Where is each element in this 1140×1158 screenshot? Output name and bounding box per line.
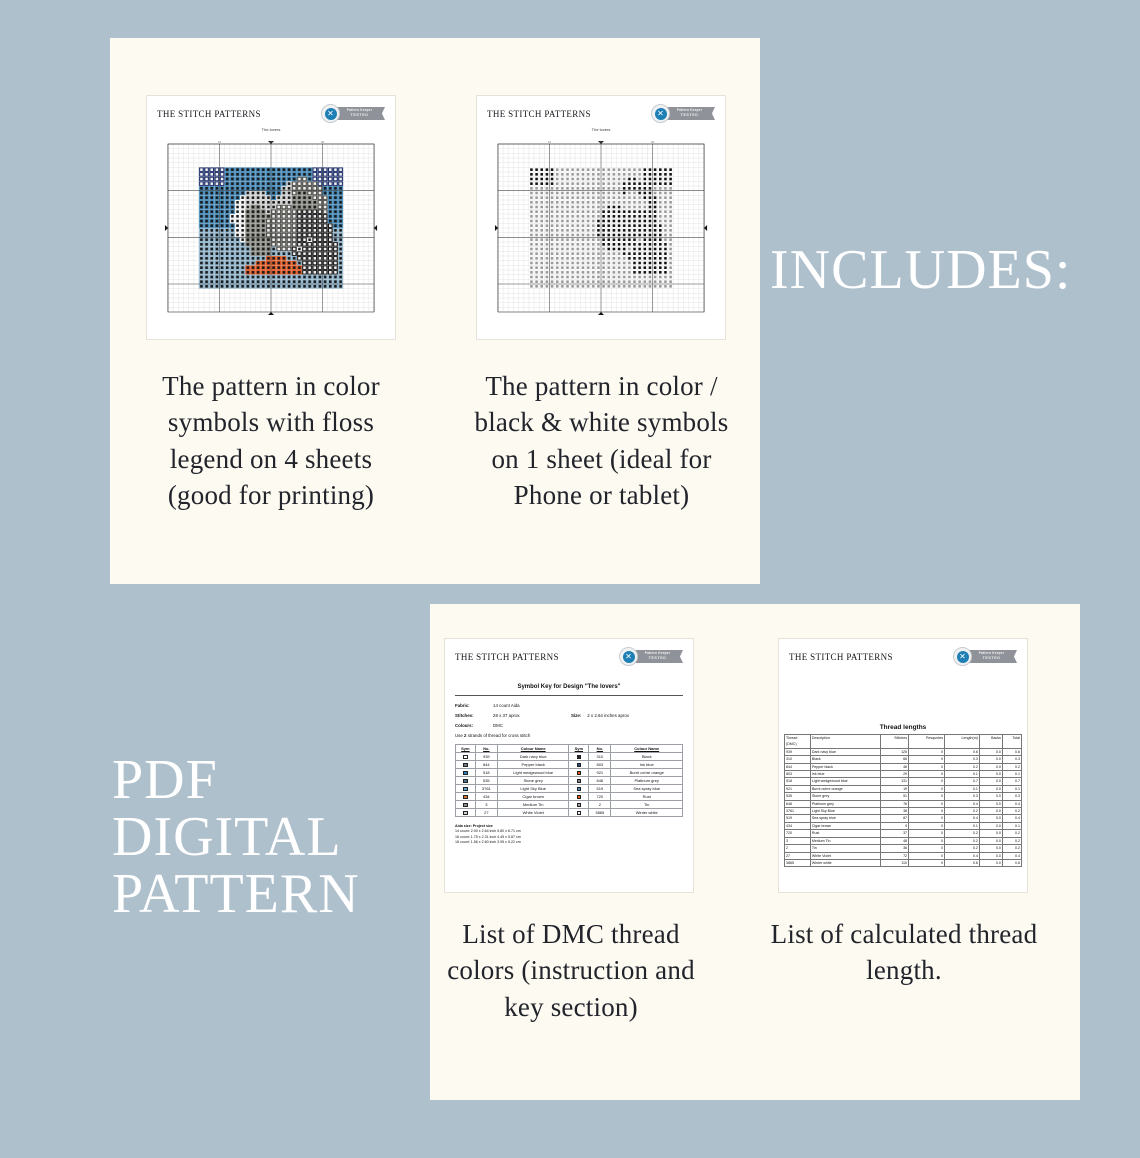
meta-row: Fabric:14 count Aida xyxy=(455,703,683,708)
stitches-cell: 125 xyxy=(880,748,908,755)
pesquntes-cell: 0 xyxy=(909,845,945,852)
colour-name-cell: White Violet xyxy=(497,809,569,817)
description-cell: Dark navy blue xyxy=(810,748,880,755)
badge-cross-icon: ✕ xyxy=(957,651,969,663)
colour-name-cell: Platinum grey xyxy=(611,777,683,785)
column-header: Sym xyxy=(569,745,589,753)
colour-name-cell: Tin xyxy=(611,801,683,809)
backs-cell: 0.0 xyxy=(979,800,1002,807)
document-card-symbol-key[interactable]: THE STITCH PATTERNS Pattern Keeper TESTE… xyxy=(444,638,694,893)
colour-name-cell: Burnt ochre orange xyxy=(611,769,683,777)
caption-thread-lengths: List of calculated thread length. xyxy=(760,916,1048,989)
description-cell: Burnt ochre orange xyxy=(810,785,880,792)
stitches-cell: 9 xyxy=(880,822,908,829)
color-swatch xyxy=(463,755,468,760)
length-cell: 0.3 xyxy=(945,793,980,800)
column-header: Pesquntes xyxy=(909,735,945,749)
pesquntes-cell: 0 xyxy=(909,778,945,785)
document-header: THE STITCH PATTERNS Pattern Keeper TESTE… xyxy=(477,96,725,125)
chart-grid xyxy=(491,133,711,323)
thread-cell: 518 xyxy=(785,778,811,785)
pesquntes-cell: 0 xyxy=(909,808,945,815)
stitches-cell: 29 xyxy=(880,771,908,778)
dmc-number-cell: 939 xyxy=(475,753,497,761)
symbol-swatch-cell xyxy=(456,785,476,793)
symbol-swatch-cell xyxy=(456,769,476,777)
table-row: 3865Winter white11000.60.00.6 xyxy=(785,859,1022,866)
description-cell: Light wedgewood blue xyxy=(810,778,880,785)
symbol-swatch-cell xyxy=(569,761,589,769)
chart-area: The lovers xyxy=(477,125,725,329)
symbol-key-meta-list: Fabric:14 count AidaStitches:28 x 37 apr… xyxy=(455,703,683,728)
document-header-title: THE STITCH PATTERNS xyxy=(789,652,893,662)
table-row: 310Black6600.30.00.3 xyxy=(785,756,1022,763)
color-swatch xyxy=(463,811,468,816)
badge-cross-icon: ✕ xyxy=(655,108,667,120)
chart-grid xyxy=(161,133,381,323)
caption-color-chart: The pattern in color symbols with floss … xyxy=(136,368,406,514)
stitches-cell: 48 xyxy=(880,837,908,844)
total-cell: 0.4 xyxy=(1002,800,1021,807)
table-row: 803Ink blue2900.10.00.1 xyxy=(785,771,1022,778)
backs-cell: 0.0 xyxy=(979,808,1002,815)
symbol-swatch-cell xyxy=(569,777,589,785)
pesquntes-cell: 0 xyxy=(909,852,945,859)
length-cell: 0.4 xyxy=(945,800,980,807)
table-row: 518Light wedgewood blue921Burnt ochre or… xyxy=(456,769,683,777)
color-swatch xyxy=(577,755,582,760)
colour-name-cell: Medium Tin xyxy=(497,801,569,809)
table-row: 27White Violet7200.40.00.4 xyxy=(785,852,1022,859)
color-swatch xyxy=(577,811,582,816)
color-swatch xyxy=(463,763,468,768)
backs-cell: 0.0 xyxy=(979,748,1002,755)
pesquntes-cell: 0 xyxy=(909,859,945,866)
pesquntes-cell: 0 xyxy=(909,785,945,792)
length-cell: 0.2 xyxy=(945,763,980,770)
symbol-swatch-cell xyxy=(456,777,476,785)
table-row: 939Dark navy blue12500.60.00.6 xyxy=(785,748,1022,755)
pesquntes-cell: 0 xyxy=(909,800,945,807)
colour-name-cell: Black xyxy=(611,753,683,761)
meta-label-2: Size: xyxy=(571,713,581,718)
dmc-number-cell: 844 xyxy=(475,761,497,769)
dmc-number-cell: 518 xyxy=(475,769,497,777)
badge-status-label: TESTED xyxy=(966,656,1017,661)
symbol-swatch-cell xyxy=(456,793,476,801)
dmc-number-cell: 3 xyxy=(475,801,497,809)
thread-cell: 3865 xyxy=(785,859,811,866)
table-row: 535Stone grey646Platinum grey xyxy=(456,777,683,785)
thread-cell: 535 xyxy=(785,793,811,800)
total-cell: 0.2 xyxy=(1002,837,1021,844)
dmc-number-cell: 921 xyxy=(589,769,611,777)
backs-cell: 0.0 xyxy=(979,859,1002,866)
document-header-title: THE STITCH PATTERNS xyxy=(455,652,559,662)
strands-note-pre: Use xyxy=(455,733,464,738)
length-cell: 0.2 xyxy=(945,830,980,837)
description-cell: Pepper black xyxy=(810,763,880,770)
description-cell: Tin xyxy=(810,845,880,852)
badge-disc-icon: ✕ xyxy=(619,647,638,666)
color-swatch xyxy=(577,779,582,784)
includes-heading: INCLUDES: xyxy=(770,238,1071,302)
badge-disc-icon: ✕ xyxy=(321,104,340,123)
table-row: 518Light wedgewood blue13100.70.00.7 xyxy=(785,778,1022,785)
pesquntes-cell: 0 xyxy=(909,830,945,837)
dmc-number-cell: 3761 xyxy=(475,785,497,793)
table-row: 3Medium Tin4800.20.00.2 xyxy=(785,837,1022,844)
pdf-heading-line-2: DIGITAL xyxy=(112,809,360,866)
description-cell: Medium Tin xyxy=(810,837,880,844)
stitches-cell: 37 xyxy=(880,830,908,837)
total-cell: 0.3 xyxy=(1002,756,1021,763)
symbol-swatch-cell xyxy=(569,793,589,801)
table-row: 844Pepper black4600.20.00.2 xyxy=(785,763,1022,770)
backs-cell: 0.0 xyxy=(979,822,1002,829)
meta-value: DMC xyxy=(493,723,571,728)
stitches-cell: 72 xyxy=(880,852,908,859)
length-cell: 0.2 xyxy=(945,808,980,815)
total-cell: 0.6 xyxy=(1002,859,1021,866)
column-header: Thread(DMC) xyxy=(785,735,811,749)
badge-cross-icon: ✕ xyxy=(325,108,337,120)
length-cell: 0.1 xyxy=(945,771,980,778)
meta-value: 28 x 37 aprox xyxy=(493,713,571,718)
meta-value: 14 count Aida xyxy=(493,703,571,708)
color-swatch xyxy=(577,795,582,800)
color-swatch xyxy=(463,771,468,776)
colour-name-cell: Winter white xyxy=(611,809,683,817)
backs-cell: 0.0 xyxy=(979,815,1002,822)
dmc-number-cell: 310 xyxy=(589,753,611,761)
thread-cell: 3761 xyxy=(785,808,811,815)
thread-cell: 720 xyxy=(785,830,811,837)
description-cell: Platinum grey xyxy=(810,800,880,807)
description-cell: White Violet xyxy=(810,852,880,859)
pesquntes-cell: 0 xyxy=(909,793,945,800)
stitches-cell: 87 xyxy=(880,815,908,822)
description-cell: Ink blue xyxy=(810,771,880,778)
thread-lengths-table: Thread(DMC)DescriptionStitchesPesquntesL… xyxy=(784,734,1022,867)
dmc-number-cell: 535 xyxy=(475,777,497,785)
description-cell: Cigar brown xyxy=(810,822,880,829)
symbol-swatch-cell xyxy=(569,801,589,809)
stitches-cell: 19 xyxy=(880,785,908,792)
backs-cell: 0.0 xyxy=(979,830,1002,837)
dmc-number-cell: 803 xyxy=(589,761,611,769)
document-card-bw-chart[interactable]: THE STITCH PATTERNS Pattern Keeper TESTE… xyxy=(476,95,726,340)
backs-cell: 0.0 xyxy=(979,852,1002,859)
backs-cell: 0.0 xyxy=(979,785,1002,792)
backs-cell: 0.0 xyxy=(979,845,1002,852)
color-swatch xyxy=(463,779,468,784)
column-header: Colour Name xyxy=(497,745,569,753)
meta-value-2: 2 x 2.64 inches aprox xyxy=(587,713,629,718)
document-header: THE STITCH PATTERNS Pattern Keeper TESTE… xyxy=(779,639,1027,668)
backs-cell: 0.0 xyxy=(979,793,1002,800)
pattern-keeper-tested-badge: Pattern Keeper TESTED ✕ xyxy=(619,647,683,666)
pattern-keeper-tested-badge: Pattern Keeper TESTED ✕ xyxy=(651,104,715,123)
chart-caption: The lovers xyxy=(491,127,711,132)
stitches-cell: 51 xyxy=(880,793,908,800)
table-row: 844Pepper black803Ink blue xyxy=(456,761,683,769)
symbol-swatch-cell xyxy=(569,769,589,777)
length-cell: 0.4 xyxy=(945,815,980,822)
total-cell: 0.2 xyxy=(1002,830,1021,837)
pesquntes-cell: 0 xyxy=(909,822,945,829)
length-cell: 0.1 xyxy=(945,822,980,829)
caption-bw-chart: The pattern in color / black & white sym… xyxy=(460,368,743,514)
thread-lengths-title: Thread lengths xyxy=(779,724,1027,731)
caption-symbol-key: List of DMC thread colors (instruction a… xyxy=(440,916,702,1025)
total-cell: 0.1 xyxy=(1002,785,1021,792)
document-header-title: THE STITCH PATTERNS xyxy=(157,109,261,119)
thread-cell: 3 xyxy=(785,837,811,844)
total-cell: 0.2 xyxy=(1002,845,1021,852)
colour-name-cell: Light wedgewood blue xyxy=(497,769,569,777)
document-header: THE STITCH PATTERNS Pattern Keeper TESTE… xyxy=(445,639,693,668)
stitches-cell: 46 xyxy=(880,763,908,770)
stitches-cell: 36 xyxy=(880,845,908,852)
stitches-cell: 131 xyxy=(880,778,908,785)
table-row: 646Platinum grey7600.40.00.4 xyxy=(785,800,1022,807)
badge-disc-icon: ✕ xyxy=(651,104,670,123)
total-cell: 0.2 xyxy=(1002,808,1021,815)
length-cell: 0.4 xyxy=(945,852,980,859)
meta-row: Colours:DMC xyxy=(455,723,683,728)
thread-cell: 434 xyxy=(785,822,811,829)
badge-status-label: TESTED xyxy=(334,113,385,118)
color-swatch xyxy=(463,795,468,800)
document-header: THE STITCH PATTERNS Pattern Keeper TESTE… xyxy=(147,96,395,125)
column-header: No. xyxy=(475,745,497,753)
pdf-heading-line-3: PATTERN xyxy=(112,866,360,923)
column-header: Stitches xyxy=(880,735,908,749)
pesquntes-cell: 0 xyxy=(909,748,945,755)
thread-cell: 646 xyxy=(785,800,811,807)
dmc-number-cell: 27 xyxy=(475,809,497,817)
column-header: Description xyxy=(810,735,880,749)
length-cell: 0.3 xyxy=(945,756,980,763)
column-header: No. xyxy=(589,745,611,753)
total-cell: 0.7 xyxy=(1002,778,1021,785)
meta-label: Colours: xyxy=(455,723,493,728)
thread-cell: 519 xyxy=(785,815,811,822)
total-cell: 0.6 xyxy=(1002,748,1021,755)
backs-cell: 0.0 xyxy=(979,837,1002,844)
colour-name-cell: Rust xyxy=(611,793,683,801)
document-card-thread-lengths[interactable]: THE STITCH PATTERNS Pattern Keeper TESTE… xyxy=(778,638,1028,893)
symbol-key-title: Symbol Key for Design "The lovers" xyxy=(455,684,683,690)
table-row: 434Cigar brown720Rust xyxy=(456,793,683,801)
table-row: 27White Violet3865Winter white xyxy=(456,809,683,817)
length-cell: 0.6 xyxy=(945,748,980,755)
badge-disc-icon: ✕ xyxy=(953,647,972,666)
table-header-row: Thread(DMC)DescriptionStitchesPesquntesL… xyxy=(785,735,1022,749)
stitches-cell: 66 xyxy=(880,756,908,763)
dmc-number-cell: 646 xyxy=(589,777,611,785)
length-cell: 0.2 xyxy=(945,837,980,844)
stitches-cell: 76 xyxy=(880,800,908,807)
meta-label: Fabric: xyxy=(455,703,493,708)
table-row: 519Sea spray blue8700.40.00.4 xyxy=(785,815,1022,822)
colour-name-cell: Stone grey xyxy=(497,777,569,785)
total-cell: 0.1 xyxy=(1002,822,1021,829)
pattern-keeper-tested-badge: Pattern Keeper TESTED ✕ xyxy=(321,104,385,123)
length-cell: 0.7 xyxy=(945,778,980,785)
table-header-row: SymNo.Colour NameSymNo.Colour Name xyxy=(456,745,683,753)
dmc-number-cell: 519 xyxy=(589,785,611,793)
stitches-cell: 38 xyxy=(880,808,908,815)
thread-cell: 803 xyxy=(785,771,811,778)
badge-status-label: TESTED xyxy=(664,113,715,118)
backs-cell: 0.0 xyxy=(979,763,1002,770)
total-cell: 0.4 xyxy=(1002,852,1021,859)
table-row: 2Tin3600.20.00.2 xyxy=(785,845,1022,852)
colour-name-cell: Sea spray blue xyxy=(611,785,683,793)
colour-name-cell: Ink blue xyxy=(611,761,683,769)
column-header: Length(m) xyxy=(945,735,980,749)
length-cell: 0.1 xyxy=(945,785,980,792)
badge-status-label: TESTED xyxy=(632,656,683,661)
table-row: 3761Light Sky Blue519Sea spray blue xyxy=(456,785,683,793)
aida-size-block: Aida size: Project size 14 count: 2.00 x… xyxy=(455,824,683,846)
thread-cell: 939 xyxy=(785,748,811,755)
color-swatch xyxy=(463,787,468,792)
pesquntes-cell: 0 xyxy=(909,756,945,763)
stitches-cell: 110 xyxy=(880,859,908,866)
color-swatch xyxy=(577,771,582,776)
thread-cell: 310 xyxy=(785,756,811,763)
column-header: Sym xyxy=(456,745,476,753)
pesquntes-cell: 0 xyxy=(909,763,945,770)
document-card-color-chart[interactable]: THE STITCH PATTERNS Pattern Keeper TESTE… xyxy=(146,95,396,340)
symbol-swatch-cell xyxy=(569,809,589,817)
pdf-heading-line-1: PDF xyxy=(112,752,360,809)
total-cell: 0.2 xyxy=(1002,763,1021,770)
total-cell: 0.3 xyxy=(1002,793,1021,800)
colour-name-cell: Dark navy blue xyxy=(497,753,569,761)
total-cell: 0.4 xyxy=(1002,815,1021,822)
table-row: 3761Light Sky Blue3800.20.00.2 xyxy=(785,808,1022,815)
strands-note-post: strands of thread for cross stitch xyxy=(466,733,530,738)
description-cell: Stone grey xyxy=(810,793,880,800)
symbol-swatch-cell xyxy=(569,753,589,761)
meta-row: Stitches:28 x 37 aproxSize:2 x 2.64 inch… xyxy=(455,713,683,718)
symbol-key-table: SymNo.Colour NameSymNo.Colour Name 939Da… xyxy=(455,744,683,817)
dmc-number-cell: 2 xyxy=(589,801,611,809)
table-row: 720Rust3700.20.00.2 xyxy=(785,830,1022,837)
description-cell: Winter white xyxy=(810,859,880,866)
pesquntes-cell: 0 xyxy=(909,815,945,822)
thread-cell: 844 xyxy=(785,763,811,770)
length-cell: 0.2 xyxy=(945,845,980,852)
table-row: 535Stone grey5100.30.00.3 xyxy=(785,793,1022,800)
meta-label: Stitches: xyxy=(455,713,493,718)
description-cell: Light Sky Blue xyxy=(810,808,880,815)
strands-note: Use 2 strands of thread for cross stitch xyxy=(455,733,683,738)
color-swatch xyxy=(577,787,582,792)
pattern-keeper-tested-badge: Pattern Keeper TESTED ✕ xyxy=(953,647,1017,666)
backs-cell: 0.0 xyxy=(979,771,1002,778)
dmc-number-cell: 720 xyxy=(589,793,611,801)
chart-caption: The lovers xyxy=(161,127,381,132)
aida-size-title: Aida size: Project size xyxy=(455,824,493,828)
thread-cell: 921 xyxy=(785,785,811,792)
length-cell: 0.6 xyxy=(945,859,980,866)
dmc-number-cell: 3865 xyxy=(589,809,611,817)
thread-cell: 2 xyxy=(785,845,811,852)
column-header: Total xyxy=(1002,735,1021,749)
document-header-title: THE STITCH PATTERNS xyxy=(487,109,591,119)
table-row: 3Medium Tin2Tin xyxy=(456,801,683,809)
table-row: 921Burnt ochre orange1900.10.00.1 xyxy=(785,785,1022,792)
symbol-swatch-cell xyxy=(569,785,589,793)
aida-size-line: 18 count: 1.56 x 2.60 inch 3.95 x 5.22 c… xyxy=(455,840,683,845)
table-row: 434Cigar brown900.10.00.1 xyxy=(785,822,1022,829)
total-cell: 0.1 xyxy=(1002,771,1021,778)
colour-name-cell: Cigar brown xyxy=(497,793,569,801)
symbol-swatch-cell xyxy=(456,761,476,769)
symbol-swatch-cell xyxy=(456,809,476,817)
dmc-number-cell: 434 xyxy=(475,793,497,801)
table-row: 939Dark navy blue310Black xyxy=(456,753,683,761)
backs-cell: 0.0 xyxy=(979,756,1002,763)
colour-name-cell: Pepper black xyxy=(497,761,569,769)
pesquntes-cell: 0 xyxy=(909,837,945,844)
symbol-swatch-cell xyxy=(456,753,476,761)
description-cell: Sea spray blue xyxy=(810,815,880,822)
backs-cell: 0.0 xyxy=(979,778,1002,785)
column-header: Backs xyxy=(979,735,1002,749)
thread-cell: 27 xyxy=(785,852,811,859)
description-cell: Rust xyxy=(810,830,880,837)
column-header: Colour Name xyxy=(611,745,683,753)
color-swatch xyxy=(577,763,582,768)
description-cell: Black xyxy=(810,756,880,763)
chart-area: The lovers xyxy=(147,125,395,329)
badge-cross-icon: ✕ xyxy=(623,651,635,663)
pdf-digital-pattern-heading: PDF DIGITAL PATTERN xyxy=(112,752,360,923)
symbol-swatch-cell xyxy=(456,801,476,809)
pesquntes-cell: 0 xyxy=(909,771,945,778)
divider xyxy=(455,695,683,696)
color-swatch xyxy=(463,803,468,808)
color-swatch xyxy=(577,803,582,808)
colour-name-cell: Light Sky Blue xyxy=(497,785,569,793)
